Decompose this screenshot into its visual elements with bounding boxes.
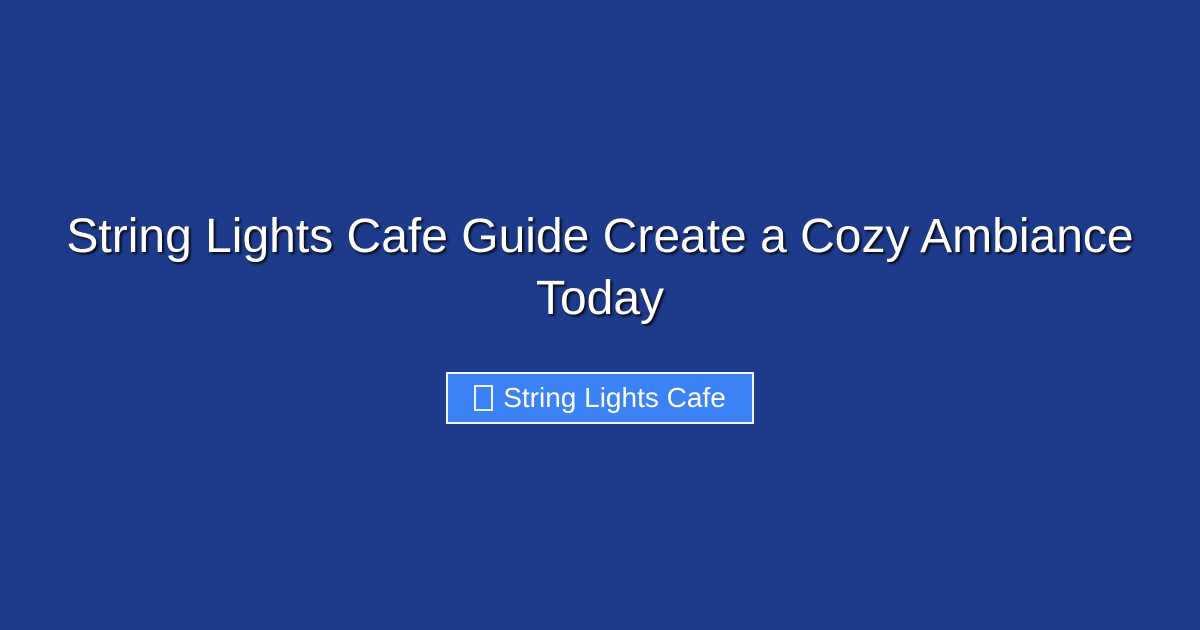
missing-glyph-icon	[474, 385, 493, 411]
badge-row: String Lights Cafe	[446, 372, 754, 424]
page-title: String Lights Cafe Guide Create a Cozy A…	[60, 206, 1140, 330]
og-image-card: String Lights Cafe Guide Create a Cozy A…	[0, 0, 1200, 630]
badge-label: String Lights Cafe	[503, 382, 726, 414]
string-lights-cafe-badge[interactable]: String Lights Cafe	[446, 372, 754, 424]
